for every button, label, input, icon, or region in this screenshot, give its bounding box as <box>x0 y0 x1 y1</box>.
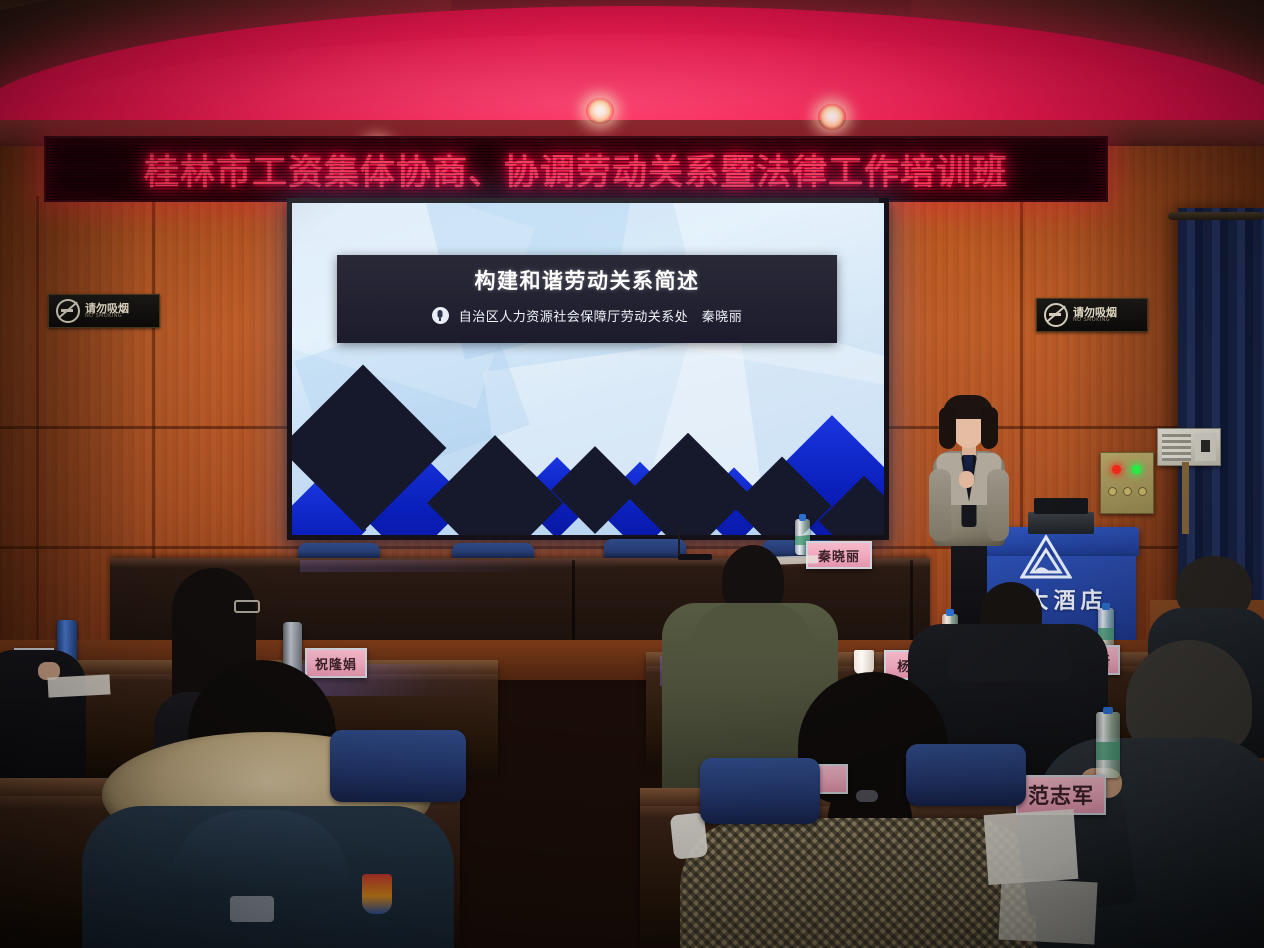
curtain-rod <box>1168 212 1264 220</box>
conference-room-photo: 桂林市工资集体协商、协调劳动关系暨法律工作培训班 请勿吸烟 NO SMOKING… <box>0 0 1264 948</box>
coat-hood <box>692 603 812 655</box>
audience-hair-grey <box>1126 640 1252 752</box>
projection-screen: 构建和谐劳动关系简述 自治区人力资源社会保障厅劳动关系处 秦晓丽 <box>287 198 889 540</box>
led-banner-text: 桂林市工资集体协商、协调劳动关系暨法律工作培训班 <box>144 144 1008 195</box>
microphone-icon <box>432 307 449 324</box>
no-smoking-label-en: NO SMOKING <box>1073 318 1117 323</box>
presenter-hair-side <box>981 407 998 449</box>
stage-control-box[interactable] <box>1100 452 1154 514</box>
placard-name-text: 范志军 <box>1028 780 1094 810</box>
paper-sheet <box>998 878 1097 945</box>
water-bottle <box>1096 712 1120 778</box>
control-knob[interactable] <box>1123 487 1132 496</box>
eyeglasses-icon <box>234 600 260 613</box>
audience-woman-fur-hood-parka <box>60 660 480 948</box>
shoulder-patch <box>362 874 392 914</box>
slide-title: 构建和谐劳动关系简述 <box>337 265 837 295</box>
electrical-panel <box>1157 428 1221 466</box>
audience-chair <box>906 744 1026 806</box>
panel-stand <box>1182 462 1189 534</box>
downlight-icon <box>818 104 846 130</box>
indicator-light-red <box>1112 465 1121 474</box>
paper-sheet <box>984 809 1079 885</box>
no-smoking-sign-right: 请勿吸烟 NO SMOKING <box>1036 298 1148 332</box>
presenter-hair-side <box>939 407 956 449</box>
table-screen-reflection <box>300 560 630 572</box>
led-banner: 桂林市工资集体协商、协调劳动关系暨法律工作培训班 <box>44 136 1108 202</box>
presentation-slide: 构建和谐劳动关系简述 自治区人力资源社会保障厅劳动关系处 秦晓丽 <box>292 203 884 535</box>
hair-tie <box>856 790 878 802</box>
no-smoking-icon <box>56 299 80 323</box>
presenter-arm <box>929 469 951 541</box>
audience-chair <box>700 758 820 824</box>
no-smoking-icon <box>1044 303 1068 327</box>
indicator-light-green <box>1132 465 1141 474</box>
laptop-screen <box>1034 498 1088 514</box>
triangle-mountain-logo-icon <box>1020 534 1072 580</box>
presenter-arm <box>987 469 1009 541</box>
breaker-row-icon <box>1162 433 1191 461</box>
paper-cup <box>854 650 874 674</box>
laptop[interactable] <box>1028 512 1094 534</box>
presenter-hand <box>959 471 974 488</box>
slide-subtitle: 自治区人力资源社会保障厅劳动关系处 秦晓丽 <box>459 306 743 325</box>
downlight-icon <box>586 98 614 124</box>
control-knob[interactable] <box>1138 487 1147 496</box>
parka-buckle <box>230 896 274 922</box>
control-knob[interactable] <box>1108 487 1117 496</box>
socket-icon <box>1195 433 1216 461</box>
slide-title-box: 构建和谐劳动关系简述 自治区人力资源社会保障厅劳动关系处 秦晓丽 <box>337 255 837 343</box>
audience-chair <box>330 730 466 802</box>
no-smoking-sign-left: 请勿吸烟 NO SMOKING <box>48 294 160 328</box>
no-smoking-label-en: NO SMOKING <box>85 314 129 319</box>
